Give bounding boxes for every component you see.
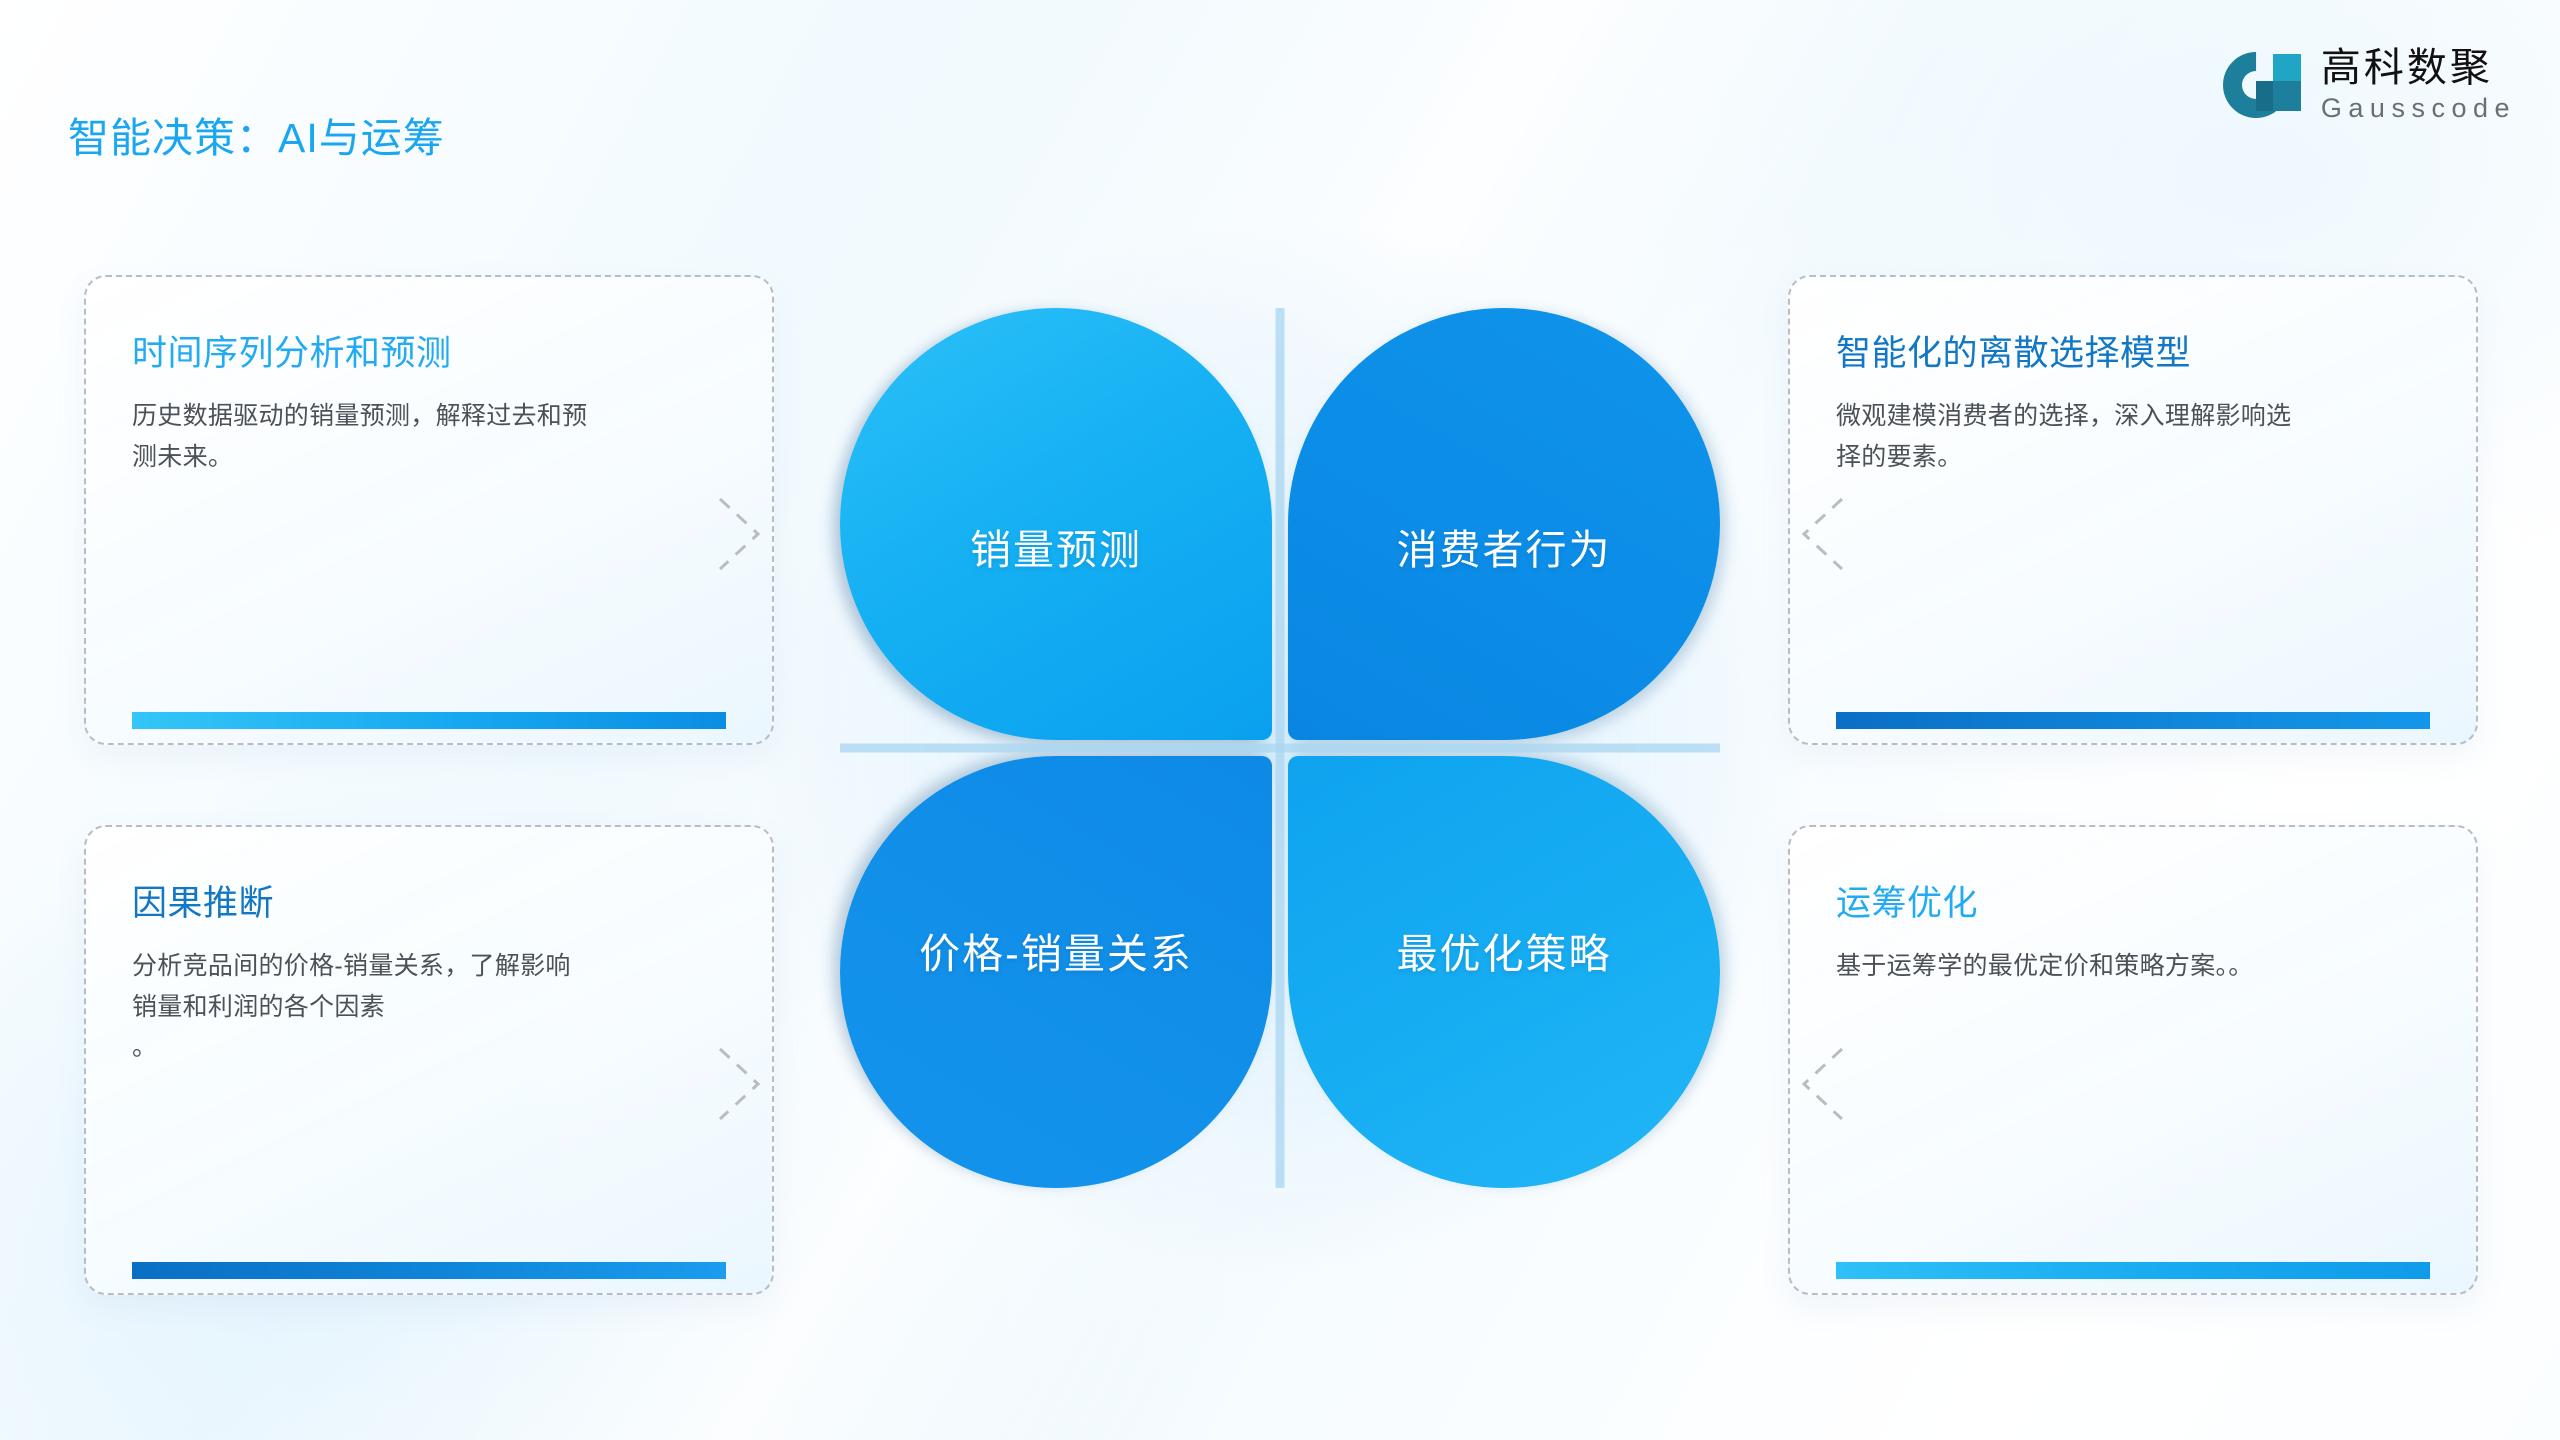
card-accent-bar: [1836, 1262, 2430, 1279]
logo-square-light: [2273, 54, 2301, 81]
card-causal-inference[interactable]: 因果推断 分析竞品间的价格-销量关系，了解影响 销量和利润的各个因素 。: [84, 825, 774, 1295]
logo-name-cn: 高科数聚: [2321, 48, 2516, 88]
card-title: 因果推断: [132, 875, 726, 926]
petal-diagram: 销量预测 消费者行为 价格-销量关系 最优化策略: [840, 308, 1720, 1188]
petal-consumer-behavior[interactable]: 消费者行为: [1288, 308, 1720, 740]
brand-logo: 高科数聚 Gausscode: [2223, 46, 2516, 124]
connector-chevron-left-icon: [1788, 489, 1844, 579]
petal-optimal-strategy[interactable]: 最优化策略: [1288, 756, 1720, 1188]
gausscode-logo-icon: [2223, 46, 2301, 124]
card-accent-bar: [132, 1262, 726, 1279]
logo-wordmark: 高科数聚 Gausscode: [2321, 48, 2516, 122]
connector-chevron-right-icon: [718, 489, 774, 579]
logo-square-dark: [2273, 81, 2301, 111]
card-accent-bar: [1836, 712, 2430, 729]
card-body: 微观建模消费者的选择，深入理解影响选 择的要素。: [1836, 396, 2430, 477]
logo-name-en: Gausscode: [2321, 95, 2516, 122]
card-accent-bar: [132, 712, 726, 729]
petal-label: 价格-销量关系: [919, 920, 1193, 980]
logo-square-mid: [2256, 81, 2273, 111]
petal-label: 消费者行为: [1397, 516, 1612, 576]
card-body: 基于运筹学的最优定价和策略方案。。: [1836, 946, 2430, 987]
petal-label: 最优化策略: [1397, 920, 1612, 980]
card-body: 历史数据驱动的销量预测，解释过去和预 测未来。: [132, 396, 726, 477]
connector-chevron-left-icon: [1788, 1039, 1844, 1129]
connector-chevron-right-icon: [718, 1039, 774, 1129]
card-title: 运筹优化: [1836, 875, 2430, 926]
card-time-series[interactable]: 时间序列分析和预测 历史数据驱动的销量预测，解释过去和预 测未来。: [84, 275, 774, 745]
page-title: 智能决策：AI与运筹: [68, 104, 445, 164]
card-title: 智能化的离散选择模型: [1836, 325, 2430, 376]
petal-price-sales-relation[interactable]: 价格-销量关系: [840, 756, 1272, 1188]
card-discrete-choice[interactable]: 智能化的离散选择模型 微观建模消费者的选择，深入理解影响选 择的要素。: [1788, 275, 2478, 745]
petal-sales-forecast[interactable]: 销量预测: [840, 308, 1272, 740]
card-operations-optimization[interactable]: 运筹优化 基于运筹学的最优定价和策略方案。。: [1788, 825, 2478, 1295]
petal-label: 销量预测: [970, 516, 1142, 576]
card-body: 分析竞品间的价格-销量关系，了解影响 销量和利润的各个因素 。: [132, 946, 726, 1068]
card-title: 时间序列分析和预测: [132, 325, 726, 376]
